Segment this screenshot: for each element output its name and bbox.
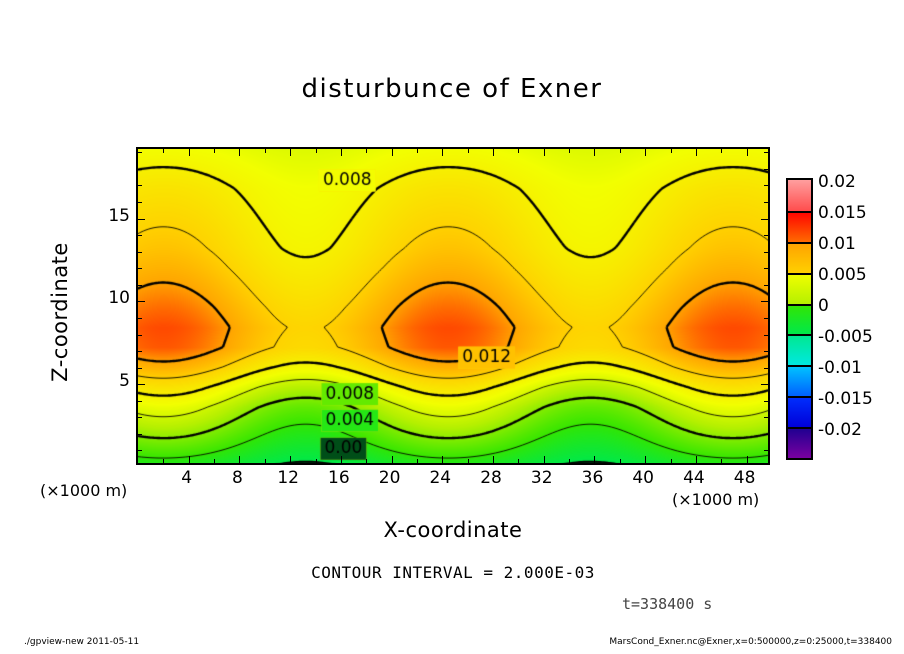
- colorbar-band: [788, 273, 811, 304]
- x-tick-mark: [366, 459, 367, 463]
- x-tick-label: 40: [621, 468, 665, 488]
- y-tick-mark: [138, 219, 145, 220]
- y-tick-mark: [138, 252, 142, 253]
- colorbar-band: [788, 334, 811, 365]
- y-tick-mark: [138, 368, 142, 369]
- x-tick-mark: [493, 149, 494, 156]
- colorbar-band: [788, 427, 811, 458]
- x-tick-mark: [594, 456, 595, 463]
- contour-field-canvas: [138, 149, 770, 465]
- x-axis-units-label: (×1000 m): [672, 490, 759, 509]
- y-tick-label: 15: [90, 206, 130, 226]
- x-tick-mark: [594, 149, 595, 156]
- x-tick-mark: [493, 456, 494, 463]
- x-tick-mark: [696, 149, 697, 156]
- x-tick-mark: [696, 456, 697, 463]
- colorbar[interactable]: [786, 178, 813, 460]
- contour-interval-note: CONTOUR INTERVAL = 2.000E-03: [136, 563, 770, 582]
- colorbar-band: [788, 242, 811, 273]
- x-tick-mark: [747, 149, 748, 156]
- y-tick-mark: [138, 301, 145, 302]
- colorbar-band-divider: [788, 427, 813, 429]
- y-tick-mark: [764, 252, 768, 253]
- x-tick-mark: [544, 456, 545, 463]
- x-tick-mark: [290, 456, 291, 463]
- colorbar-band-divider: [788, 396, 813, 398]
- x-tick-mark: [721, 149, 722, 153]
- x-tick-mark: [239, 456, 240, 463]
- colorbar-band: [788, 396, 811, 427]
- y-tick-mark: [764, 268, 768, 269]
- colorbar-band-divider: [788, 211, 813, 213]
- y-tick-mark: [764, 152, 768, 153]
- x-tick-mark: [544, 149, 545, 156]
- y-tick-mark: [138, 285, 142, 286]
- x-tick-mark: [316, 149, 317, 153]
- x-tick-mark: [671, 149, 672, 153]
- y-tick-mark: [764, 169, 768, 170]
- x-tick-mark: [569, 459, 570, 463]
- y-tick-mark: [764, 185, 768, 186]
- contour-plot-area[interactable]: [136, 147, 770, 465]
- colorbar-band-divider: [788, 334, 813, 336]
- colorbar-band-divider: [788, 365, 813, 367]
- x-tick-mark: [645, 149, 646, 156]
- x-tick-mark: [366, 149, 367, 153]
- x-tick-mark: [620, 149, 621, 153]
- y-tick-mark: [138, 417, 142, 418]
- y-tick-mark: [764, 401, 768, 402]
- y-tick-label: 5: [90, 371, 130, 391]
- x-tick-label: 4: [165, 468, 209, 488]
- y-tick-mark: [764, 285, 768, 286]
- colorbar-band: [788, 365, 811, 396]
- x-tick-mark: [290, 149, 291, 156]
- colorbar-band: [788, 304, 811, 335]
- x-tick-mark: [189, 456, 190, 463]
- y-tick-mark: [138, 318, 142, 319]
- x-tick-mark: [214, 459, 215, 463]
- y-tick-mark: [764, 351, 768, 352]
- y-tick-mark: [761, 219, 768, 220]
- page-title: disturbunce of Exner: [0, 74, 904, 104]
- x-tick-mark: [468, 149, 469, 153]
- x-tick-label: 48: [723, 468, 767, 488]
- x-axis-title: X-coordinate: [136, 518, 770, 542]
- y-tick-mark: [764, 434, 768, 435]
- x-tick-mark: [442, 456, 443, 463]
- y-tick-mark: [764, 318, 768, 319]
- x-tick-label: 32: [520, 468, 564, 488]
- x-tick-mark: [341, 149, 342, 156]
- y-tick-mark: [138, 384, 145, 385]
- x-tick-label: 28: [469, 468, 513, 488]
- x-tick-mark: [417, 149, 418, 153]
- y-tick-mark: [761, 301, 768, 302]
- x-tick-mark: [163, 149, 164, 153]
- y-tick-mark: [138, 351, 142, 352]
- colorbar-tick-label: -0.02: [818, 420, 862, 440]
- x-tick-mark: [442, 149, 443, 156]
- colorbar-band-divider: [788, 242, 813, 244]
- x-tick-mark: [721, 459, 722, 463]
- y-tick-mark: [761, 384, 768, 385]
- x-tick-label: 36: [570, 468, 614, 488]
- y-tick-mark: [138, 235, 142, 236]
- z-axis-units-label: (×1000 m): [40, 481, 127, 500]
- x-tick-mark: [189, 149, 190, 156]
- x-tick-mark: [518, 459, 519, 463]
- x-tick-mark: [468, 459, 469, 463]
- colorbar-tick-label: -0.015: [818, 389, 873, 409]
- x-tick-mark: [392, 456, 393, 463]
- y-axis-title: Z-coordinate: [48, 212, 72, 412]
- x-tick-mark: [163, 459, 164, 463]
- y-tick-mark: [764, 202, 768, 203]
- y-tick-mark: [138, 202, 142, 203]
- x-tick-mark: [239, 149, 240, 156]
- y-tick-mark: [764, 368, 768, 369]
- x-tick-mark: [518, 149, 519, 153]
- x-tick-mark: [341, 456, 342, 463]
- x-tick-label: 44: [672, 468, 716, 488]
- x-tick-mark: [671, 459, 672, 463]
- colorbar-tick-label: -0.01: [818, 358, 862, 378]
- y-tick-mark: [138, 152, 142, 153]
- x-tick-mark: [747, 456, 748, 463]
- colorbar-band-divider: [788, 273, 813, 275]
- y-tick-mark: [138, 185, 142, 186]
- y-tick-mark: [764, 417, 768, 418]
- y-tick-mark: [764, 450, 768, 451]
- y-tick-mark: [138, 401, 142, 402]
- colorbar-tick-label: 0.005: [818, 265, 867, 285]
- y-tick-label: 10: [90, 288, 130, 308]
- colorbar-band-divider: [788, 304, 813, 306]
- x-tick-mark: [392, 149, 393, 156]
- x-tick-mark: [265, 149, 266, 153]
- x-tick-mark: [645, 456, 646, 463]
- x-tick-mark: [417, 459, 418, 463]
- y-tick-mark: [138, 169, 142, 170]
- colorbar-tick-label: 0.02: [818, 172, 856, 192]
- y-tick-mark: [138, 268, 142, 269]
- colorbar-band: [788, 180, 811, 211]
- y-tick-mark: [764, 335, 768, 336]
- colorbar-band: [788, 211, 811, 242]
- x-tick-label: 8: [215, 468, 259, 488]
- x-tick-mark: [316, 459, 317, 463]
- x-tick-label: 12: [266, 468, 310, 488]
- x-tick-mark: [214, 149, 215, 153]
- colorbar-tick-label: 0: [818, 296, 829, 316]
- footer-dataset-info: MarsCond_Exner.nc@Exner,x=0:500000,z=0:2…: [609, 637, 892, 647]
- footer-command: ./gpview-new 2011-05-11: [24, 637, 139, 647]
- y-tick-mark: [764, 235, 768, 236]
- x-tick-mark: [620, 459, 621, 463]
- x-tick-mark: [569, 149, 570, 153]
- x-tick-mark: [265, 459, 266, 463]
- y-tick-mark: [138, 434, 142, 435]
- colorbar-tick-label: -0.005: [818, 327, 873, 347]
- y-tick-mark: [138, 335, 142, 336]
- y-tick-mark: [138, 450, 142, 451]
- x-tick-label: 24: [418, 468, 462, 488]
- colorbar-tick-label: 0.015: [818, 203, 867, 223]
- colorbar-tick-label: 0.01: [818, 234, 856, 254]
- x-tick-label: 16: [317, 468, 361, 488]
- x-tick-label: 20: [368, 468, 412, 488]
- timestamp-note: t=338400 s: [622, 595, 712, 613]
